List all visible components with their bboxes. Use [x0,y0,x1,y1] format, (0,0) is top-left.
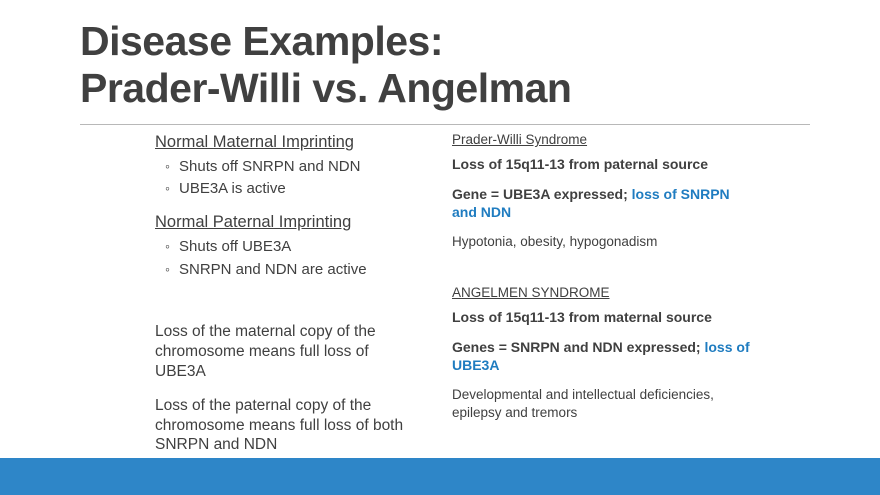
as-symptoms: Developmental and intellectual deficienc… [452,386,752,421]
as-loss-statement: Loss of 15q11-13 from maternal source [452,308,752,326]
pws-symptoms: Hypotonia, obesity, hypogonadism [452,233,752,251]
pws-gene-statement: Gene = UBE3A expressed; loss of SNRPN an… [452,185,752,221]
pws-loss-statement: Loss of 15q11-13 from paternal source [452,155,752,173]
heading-prader-willi-syndrome: Prader-Willi Syndrome [452,132,752,149]
pws-gene-expressed-text: Gene = UBE3A expressed; [452,186,628,202]
as-gene-statement: Genes = SNRPN and NDN expressed; loss of… [452,338,752,374]
list-item: Shuts off SNRPN and NDN [165,156,420,178]
heading-angelman-syndrome: ANGELMEN SYNDROME [452,285,752,302]
heading-normal-paternal-imprinting: Normal Paternal Imprinting [155,212,420,233]
right-column-spacer [452,263,752,285]
footer-bar [0,458,880,495]
left-column-spacer [155,292,420,322]
title-divider [80,124,810,125]
bullet-list-paternal: Shuts off UBE3A SNRPN and NDN are active [155,236,420,281]
title-line-1: Disease Examples: [80,18,810,65]
paragraph-paternal-loss: Loss of the paternal copy of the chromos… [155,396,420,455]
left-content-column: Normal Maternal Imprinting Shuts off SNR… [155,132,420,469]
list-item: Shuts off UBE3A [165,236,420,258]
title-line-2: Prader-Willi vs. Angelman [80,65,810,112]
slide-title: Disease Examples: Prader-Willi vs. Angel… [80,18,810,112]
list-item: SNRPN and NDN are active [165,259,420,281]
right-content-column: Prader-Willi Syndrome Loss of 15q11-13 f… [452,132,752,434]
bullet-list-maternal: Shuts off SNRPN and NDN UBE3A is active [155,156,420,201]
heading-normal-maternal-imprinting: Normal Maternal Imprinting [155,132,420,153]
as-gene-expressed-text: Genes = SNRPN and NDN expressed; [452,339,701,355]
paragraph-maternal-loss: Loss of the maternal copy of the chromos… [155,322,420,381]
slide: Disease Examples: Prader-Willi vs. Angel… [0,0,880,495]
list-item: UBE3A is active [165,178,420,200]
